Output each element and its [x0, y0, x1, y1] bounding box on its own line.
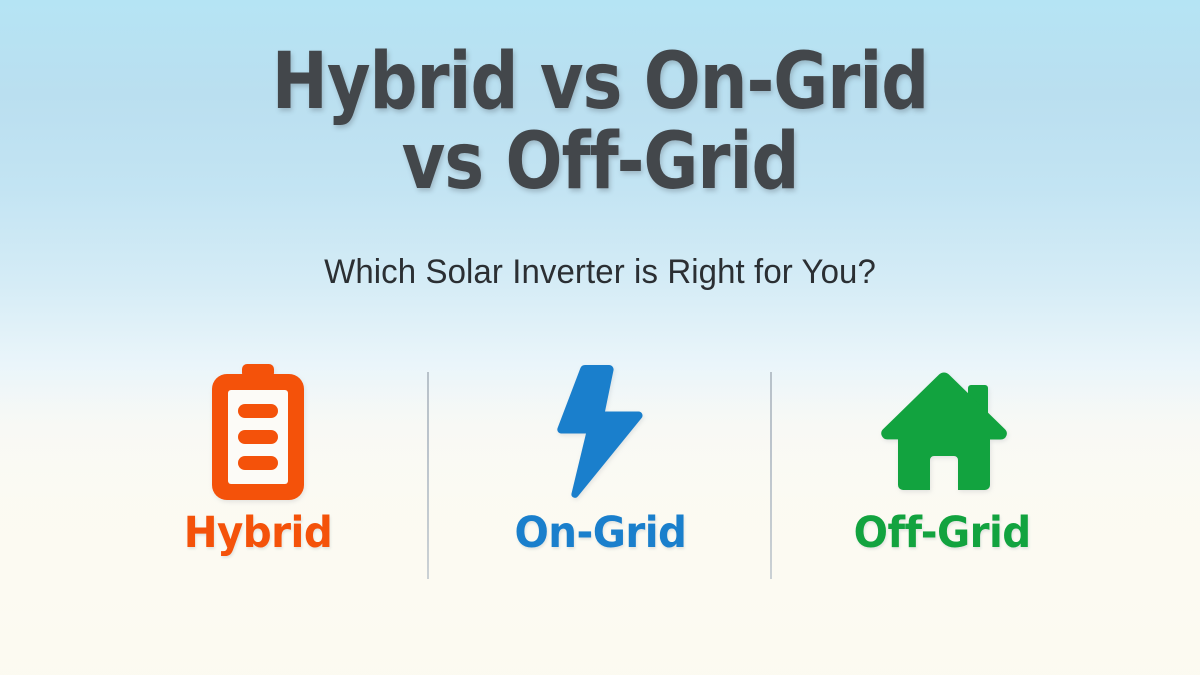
- option-label-on-grid: On-Grid: [514, 508, 686, 558]
- option-column-off-grid: Off-Grid: [771, 362, 1113, 592]
- battery-icon: [206, 362, 310, 502]
- option-column-on-grid: On-Grid: [429, 362, 771, 592]
- page-title: Hybrid vs On-Grid vs Off-Grid: [0, 42, 1200, 202]
- option-label-off-grid: Off-Grid: [854, 508, 1031, 558]
- house-icon: [876, 362, 1008, 502]
- option-column-hybrid: Hybrid: [87, 362, 429, 592]
- option-label-hybrid: Hybrid: [184, 508, 332, 558]
- title-line-2: vs Off-Grid: [84, 122, 1116, 202]
- lightning-bolt-icon: [555, 362, 645, 502]
- title-line-1: Hybrid vs On-Grid: [84, 42, 1116, 122]
- option-columns: Hybrid On-Grid: [0, 362, 1200, 592]
- slide-content: Hybrid vs On-Grid vs Off-Grid Which Sola…: [0, 0, 1200, 675]
- page-subtitle: Which Solar Inverter is Right for You?: [18, 252, 1182, 292]
- slide-canvas: Hybrid vs On-Grid vs Off-Grid Which Sola…: [0, 0, 1200, 675]
